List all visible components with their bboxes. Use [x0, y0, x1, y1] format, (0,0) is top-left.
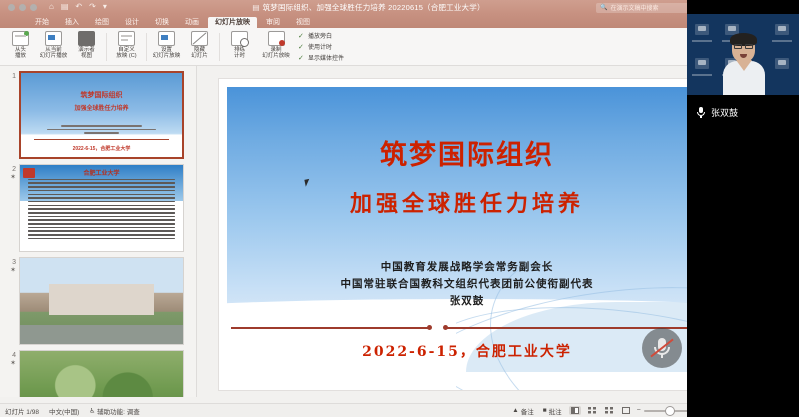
language-indicator[interactable]: 中文(中国) [49, 406, 79, 416]
mute-toggle-button[interactable] [642, 328, 682, 368]
thumbnail-number: 4 [4, 351, 16, 360]
mouse-cursor [304, 178, 313, 187]
slide-title[interactable]: 筑梦国际组织 [219, 133, 716, 172]
notes-icon: ▲ [512, 407, 518, 414]
rehearse-timings-button[interactable]: 排练 计时 [223, 29, 256, 60]
thumb-subtitle: 加强全球胜任力培养 [21, 103, 182, 112]
accessibility-label: 辅助功能: 调查 [97, 406, 140, 416]
window-controls[interactable] [8, 4, 37, 11]
thumbnail-canvas-1[interactable]: 筑梦国际组织 加强全球胜任力培养 2022-6-15，合肥工业大学 [19, 71, 184, 159]
custom-show-button[interactable]: 自定义 放映 (C) [110, 29, 143, 60]
thumb-body-text [28, 179, 175, 242]
slide-canvas[interactable]: 筑梦国际组织 加强全球胜任力培养 中国教育发展战略学会常务副会长 中国常驻联合国… [219, 79, 716, 390]
video-tile[interactable] [687, 14, 799, 95]
hide-slide-label: 隐藏 幻灯片 [191, 47, 208, 60]
thumbnail-canvas-3[interactable] [19, 257, 184, 345]
hide-slide-button[interactable]: 隐藏 幻灯片 [183, 29, 216, 60]
checkbox-play-narrations-label: 播放旁白 [308, 31, 332, 40]
play-from-current-button[interactable]: 从当前 幻灯片播放 [37, 29, 70, 60]
undo-icon[interactable]: ↶ [75, 3, 82, 11]
play-from-current-icon [45, 31, 62, 46]
tab-slideshow[interactable]: 幻灯片放映 [208, 17, 257, 28]
setup-show-button[interactable]: 设置 幻灯片放映 [150, 29, 183, 60]
thumbnail-item-2[interactable]: 2 ✶ 合肥工业大学 [0, 159, 196, 252]
ribbon-divider [106, 33, 107, 61]
minimize-button[interactable] [19, 4, 26, 11]
notes-label: 备注 [521, 406, 534, 416]
thumb-photo [20, 258, 183, 344]
participant-name: 张双鼓 [711, 106, 738, 119]
thumb-photo [20, 351, 183, 403]
tab-review[interactable]: 审阅 [259, 17, 287, 28]
tab-draw[interactable]: 绘图 [88, 17, 116, 28]
quick-access-toolbar[interactable]: ⌂ ▤ ↶ ↷ ▾ [49, 3, 107, 11]
zoom-track[interactable] [644, 410, 690, 412]
thumb-title: 筑梦国际组织 [21, 90, 182, 100]
thumbnail-canvas-2[interactable]: 合肥工业大学 [19, 164, 184, 252]
rehearse-timings-label: 排练 计时 [234, 47, 245, 60]
record-slideshow-button[interactable]: 录制 幻灯片放映 [256, 29, 296, 60]
thumbnail-number: 3 [4, 258, 16, 267]
checkbox-use-timings[interactable]: ✓ 使用计时 [298, 42, 344, 51]
ribbon-group-slide-options: 设置 幻灯片放映 隐藏 幻灯片 [150, 29, 216, 65]
tab-animations[interactable]: 动画 [178, 17, 206, 28]
animation-star-icon: ✶ [4, 174, 16, 182]
screen-root: ⌂ ▤ ↶ ↷ ▾ ▤筑梦国际组织、加强全球胜任力培养 20220615（合肥工… [0, 0, 799, 417]
notes-button[interactable]: ▲ 备注 [510, 405, 535, 417]
slide-counter[interactable]: 幻灯片 1/98 [5, 406, 39, 416]
thumbnail-meta: 1 [4, 71, 19, 81]
thumbnail-item-1[interactable]: 1 筑梦国际组织 加强全球胜任力培养 2022-6-15，合肥工业大学 [0, 66, 196, 159]
home-icon[interactable]: ⌂ [49, 3, 54, 11]
thumbnail-item-4[interactable]: 4 ✶ [0, 345, 196, 403]
microphone-icon [697, 107, 705, 118]
tab-home[interactable]: 开始 [28, 17, 56, 28]
more-icon[interactable]: ▾ [103, 3, 107, 11]
checkbox-use-timings-label: 使用计时 [308, 42, 332, 51]
normal-view-button[interactable] [569, 406, 581, 415]
thumbnail-meta: 3 ✶ [4, 257, 19, 275]
slide-thumbnail-pane[interactable]: 1 筑梦国际组织 加强全球胜任力培养 2022-6-15，合肥工业大学 [0, 66, 197, 403]
thumbnail-meta: 2 ✶ [4, 164, 19, 182]
thumb-date: 2022-6-15，合肥工业大学 [21, 145, 182, 152]
participant-name-row: 张双鼓 [687, 101, 799, 123]
ribbon-divider [219, 33, 220, 61]
ribbon-group-recording: 排练 计时 录制 幻灯片放映 [223, 29, 296, 65]
custom-show-icon [118, 31, 135, 46]
slide-divider [231, 325, 704, 331]
tab-design[interactable]: 设计 [118, 17, 146, 28]
slide-credit-line-3: 张双鼓 [219, 293, 716, 310]
search-icon: 🔍 [600, 4, 607, 11]
powerpoint-window: ⌂ ▤ ↶ ↷ ▾ ▤筑梦国际组织、加强全球胜任力培养 20220615（合肥工… [0, 0, 737, 417]
presenter-view-icon [78, 31, 95, 46]
animation-star-icon: ✶ [4, 360, 16, 368]
checkmark-icon: ✓ [298, 32, 305, 40]
thumbnail-item-3[interactable]: 3 ✶ [0, 252, 196, 345]
checkmark-icon: ✓ [298, 54, 305, 62]
thumbnail-meta: 4 ✶ [4, 350, 19, 368]
slide-sorter-button[interactable] [586, 406, 598, 415]
thumb-title: 合肥工业大学 [20, 168, 183, 177]
slide-date[interactable]: 2022-6-15，合肥工业大学 [219, 341, 716, 361]
accessibility-status[interactable]: ♿ 辅助功能: 调查 [89, 406, 139, 416]
rehearse-timings-icon [231, 31, 248, 46]
zoom-button[interactable] [30, 4, 37, 11]
window-title-text: 筑梦国际组织、加强全球胜任力培养 20220615（合肥工业大学） [263, 3, 485, 12]
meeting-panel: 张双鼓 [687, 0, 799, 417]
slide-credit-line-1: 中国教育发展战略学会常务副会长 [219, 259, 716, 276]
ribbon-group-setup: 自定义 放映 (C) [110, 29, 143, 65]
setup-show-label: 设置 幻灯片放映 [153, 47, 181, 60]
slide-credit-line-2: 中国常驻联合国教科文组织代表团前公使衔副代表 [219, 276, 716, 293]
record-slideshow-icon [268, 31, 285, 46]
tab-view[interactable]: 视图 [289, 17, 317, 28]
save-icon[interactable]: ▤ [61, 3, 69, 11]
play-from-start-button[interactable]: 从头 播放 [4, 29, 37, 60]
checkbox-play-narrations[interactable]: ✓ 播放旁白 [298, 31, 344, 40]
checkbox-show-media-controls-label: 显示媒体控件 [308, 53, 344, 62]
thumbnail-number: 1 [4, 72, 16, 81]
play-from-start-label: 从头 播放 [15, 47, 26, 60]
comments-label: 批注 [549, 406, 562, 416]
redo-icon[interactable]: ↷ [89, 3, 96, 11]
slideshow-icon [622, 407, 630, 414]
close-button[interactable] [8, 4, 15, 11]
thumbnail-canvas-4[interactable] [19, 350, 184, 403]
play-from-start-icon [12, 31, 29, 46]
slide-sorter-icon [588, 407, 596, 414]
thumb-rule [34, 139, 169, 140]
status-bar: 幻灯片 1/98 中文(中国) ♿ 辅助功能: 调查 ▲ 备注 ■ 批注 [0, 403, 737, 417]
ribbon-tab-strip[interactable]: 开始 插入 绘图 设计 切换 动画 幻灯片放映 审阅 视图 [0, 14, 737, 28]
custom-show-label: 自定义 放映 (C) [116, 47, 136, 60]
accessibility-icon: ♿ [89, 407, 95, 415]
search-placeholder: 在演示文稿中搜索 [610, 3, 658, 12]
play-from-current-label: 从当前 幻灯片播放 [40, 47, 68, 60]
zoom-knob[interactable] [666, 407, 674, 415]
slide-subtitle[interactable]: 加强全球胜任力培养 [219, 186, 716, 218]
ribbon-group-start-show: 从头 播放 从当前 幻灯片播放 演示者 视图 [4, 29, 103, 65]
workspace: 1 筑梦国际组织 加强全球胜任力培养 2022-6-15，合肥工业大学 [0, 66, 737, 403]
ribbon-body: 从头 播放 从当前 幻灯片播放 演示者 视图 自定义 放映 (C) [0, 28, 737, 66]
checkmark-icon: ✓ [298, 43, 305, 51]
thumbnail-number: 2 [4, 165, 16, 174]
video-participant-image [723, 33, 765, 95]
tab-transitions[interactable]: 切换 [148, 17, 176, 28]
slash-mark [192, 32, 207, 45]
reading-view-button[interactable] [603, 406, 615, 415]
zoom-out-button[interactable]: − [637, 407, 641, 414]
slide-credits[interactable]: 中国教育发展战略学会常务副会长 中国常驻联合国教科文组织代表团前公使衔副代表 张… [219, 259, 716, 310]
reading-view-icon [605, 407, 613, 414]
record-slideshow-label: 录制 幻灯片放映 [262, 47, 290, 60]
hide-slide-icon [191, 31, 208, 46]
ribbon-divider [146, 33, 147, 61]
tab-insert[interactable]: 插入 [58, 17, 86, 28]
comment-icon: ■ [543, 407, 547, 414]
animation-star-icon: ✶ [4, 267, 16, 275]
comments-button[interactable]: ■ 批注 [541, 405, 564, 417]
presenter-view-label: 演示者 视图 [78, 47, 95, 60]
checkbox-show-media-controls[interactable]: ✓ 显示媒体控件 [298, 53, 344, 62]
presenter-view-button[interactable]: 演示者 视图 [70, 29, 103, 60]
normal-view-icon [571, 407, 579, 414]
slideshow-options-checkboxes: ✓ 播放旁白 ✓ 使用计时 ✓ 显示媒体控件 [296, 29, 344, 65]
window-title-bar: ⌂ ▤ ↶ ↷ ▾ ▤筑梦国际组织、加强全球胜任力培养 20220615（合肥工… [0, 0, 737, 14]
setup-show-icon [158, 31, 175, 46]
slideshow-button[interactable] [620, 406, 632, 415]
thumb-credit-lines [44, 125, 160, 136]
presentation-icon: ▤ [252, 3, 259, 12]
